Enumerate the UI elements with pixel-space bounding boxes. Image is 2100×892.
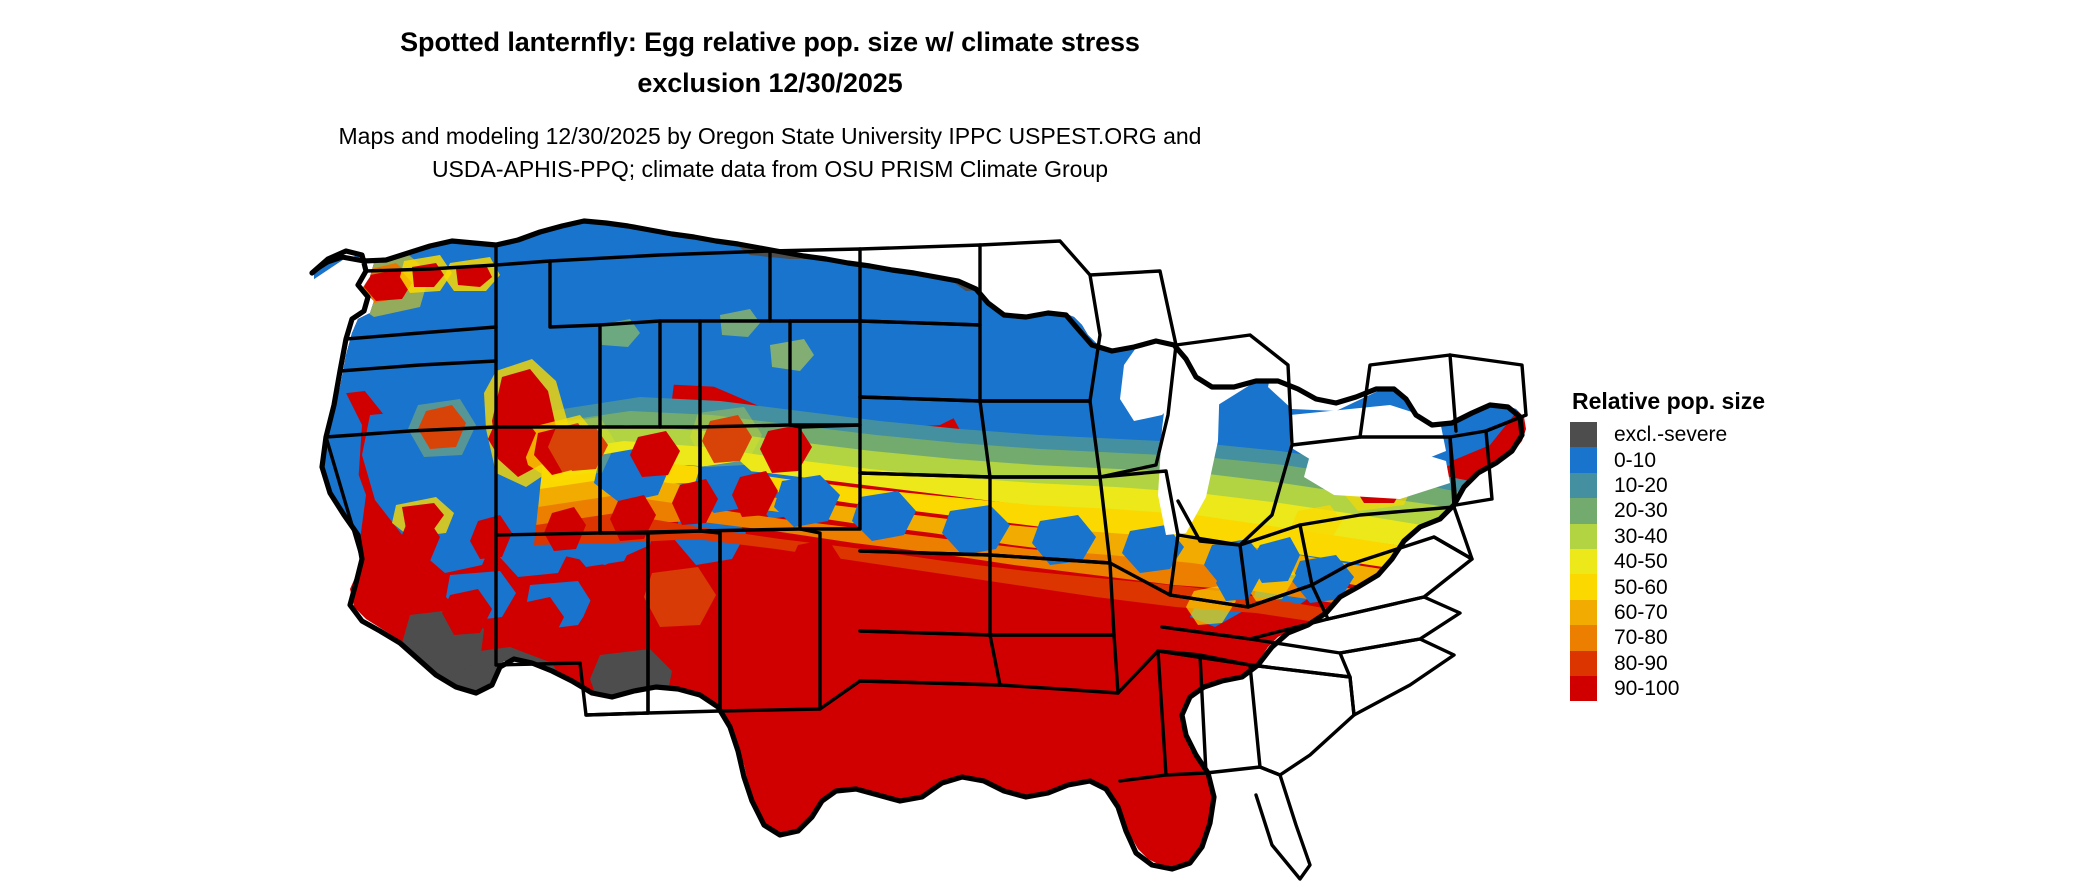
- legend-row[interactable]: 40-50: [1570, 549, 1765, 574]
- page-title: Spotted lanternfly: Egg relative pop. si…: [0, 22, 1540, 104]
- legend-row[interactable]: 30-40: [1570, 524, 1765, 549]
- legend-label: excl.-severe: [1614, 424, 1727, 445]
- legend: Relative pop. size excl.-severe0-1010-20…: [1570, 388, 1765, 701]
- legend-label: 70-80: [1614, 627, 1668, 648]
- legend-color-swatch: [1570, 549, 1597, 574]
- legend-color-swatch: [1570, 447, 1597, 472]
- legend-label: 20-30: [1614, 500, 1668, 521]
- legend-row[interactable]: 90-100: [1570, 676, 1765, 701]
- legend-row[interactable]: 0-10: [1570, 447, 1765, 472]
- legend-label: 0-10: [1614, 450, 1656, 471]
- title-block: Spotted lanternfly: Egg relative pop. si…: [0, 22, 1540, 104]
- us-choropleth-map[interactable]: [300, 215, 1530, 885]
- legend-color-swatch: [1570, 524, 1597, 549]
- legend-row[interactable]: 10-20: [1570, 473, 1765, 498]
- legend-label: 50-60: [1614, 577, 1668, 598]
- legend-color-swatch: [1570, 422, 1597, 447]
- legend-label: 60-70: [1614, 602, 1668, 623]
- legend-color-swatch: [1570, 600, 1597, 625]
- legend-items: excl.-severe0-1010-2020-3030-4040-5050-6…: [1570, 422, 1765, 701]
- legend-row[interactable]: excl.-severe: [1570, 422, 1765, 447]
- page-subtitle: Maps and modeling 12/30/2025 by Oregon S…: [0, 120, 1540, 186]
- legend-row[interactable]: 80-90: [1570, 651, 1765, 676]
- legend-color-swatch: [1570, 473, 1597, 498]
- legend-color-swatch: [1570, 676, 1597, 701]
- great-lakes: [1116, 215, 1530, 535]
- legend-color-swatch: [1570, 651, 1597, 676]
- legend-label: 40-50: [1614, 551, 1668, 572]
- legend-row[interactable]: 60-70: [1570, 600, 1765, 625]
- legend-row[interactable]: 20-30: [1570, 498, 1765, 523]
- map-container[interactable]: [300, 215, 1530, 885]
- legend-row[interactable]: 50-60: [1570, 574, 1765, 599]
- legend-color-swatch: [1570, 625, 1597, 650]
- legend-label: 10-20: [1614, 475, 1668, 496]
- legend-color-swatch: [1570, 498, 1597, 523]
- legend-row[interactable]: 70-80: [1570, 625, 1765, 650]
- legend-label: 30-40: [1614, 526, 1668, 547]
- legend-label: 80-90: [1614, 653, 1668, 674]
- legend-color-swatch: [1570, 574, 1597, 599]
- legend-title: Relative pop. size: [1572, 388, 1765, 414]
- legend-label: 90-100: [1614, 678, 1679, 699]
